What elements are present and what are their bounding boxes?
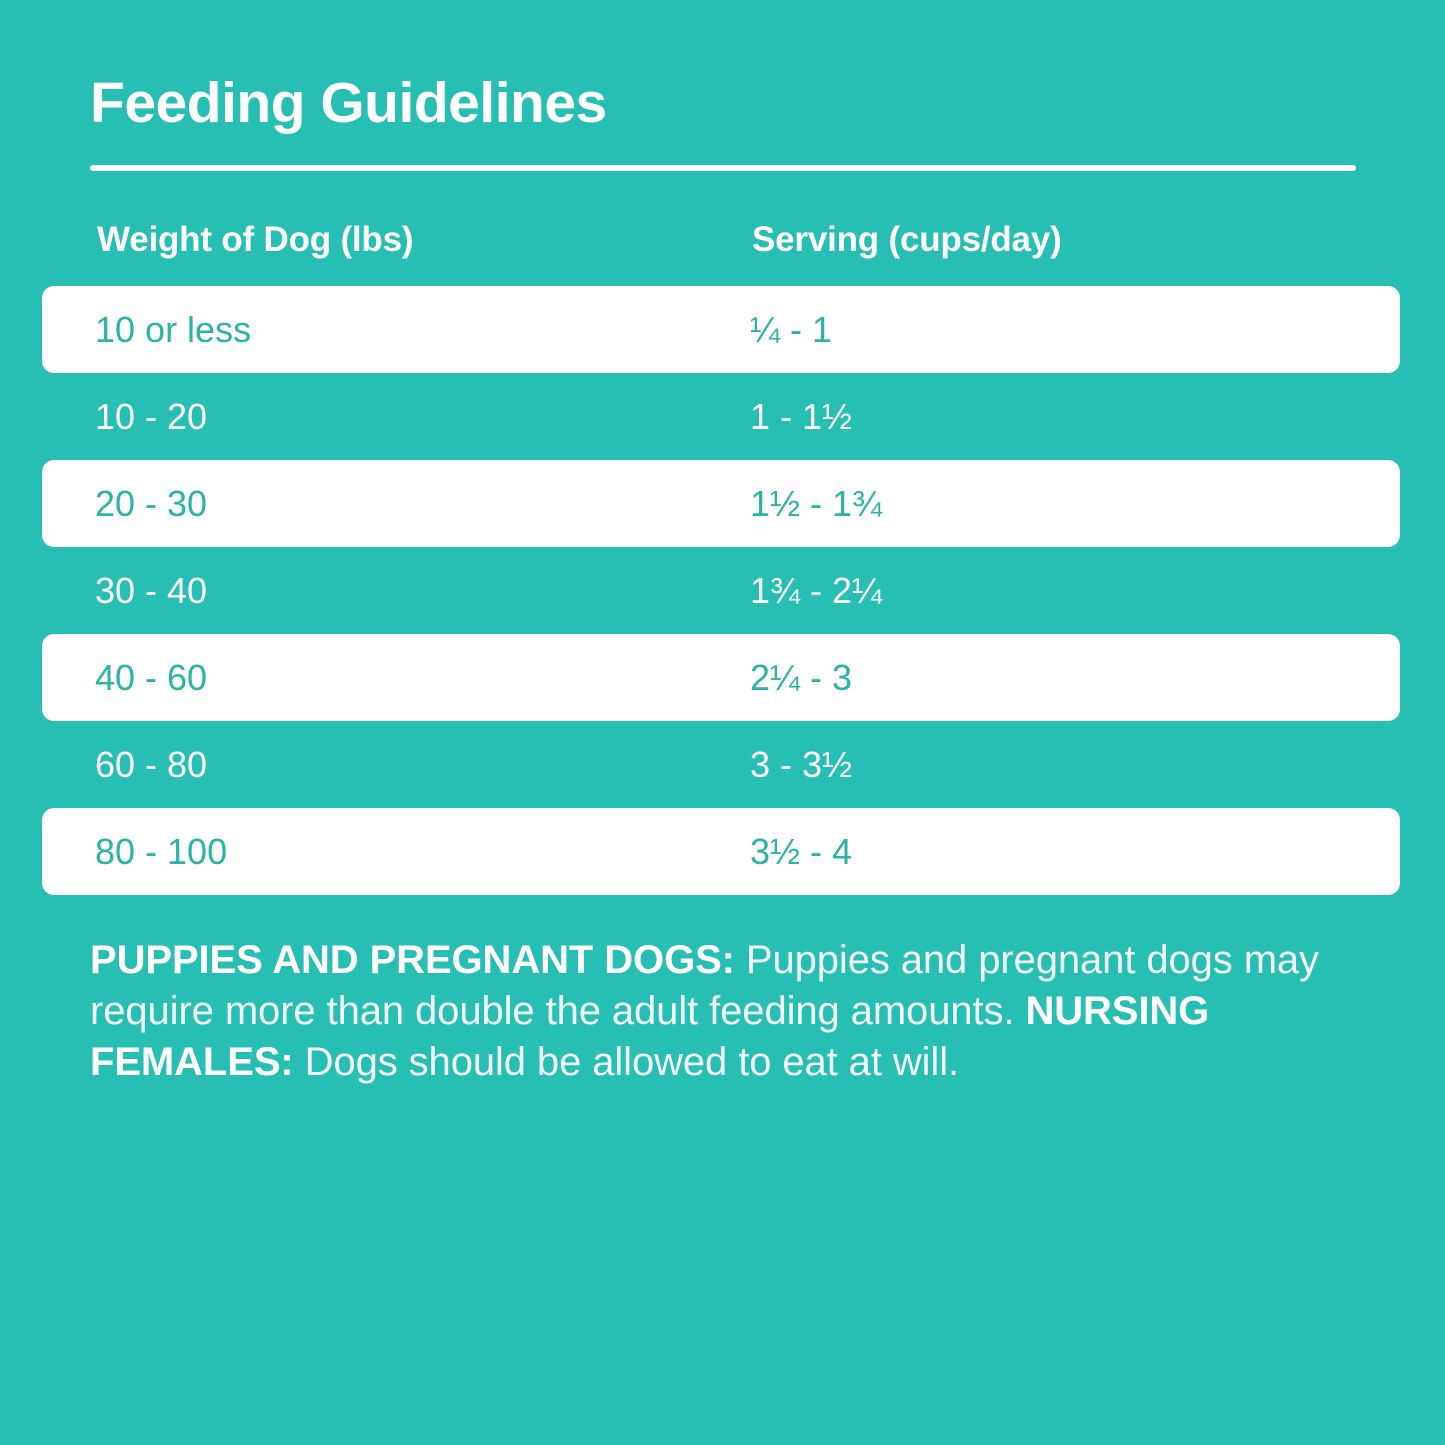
table-header-row: Weight of Dog (lbs) Serving (cups/day) [0,206,1445,286]
cell-weight: 10 - 20 [95,373,207,460]
row-background [42,460,1400,547]
cell-serving: 3½ - 4 [750,808,852,895]
feeding-guidelines-panel: Feeding Guidelines Weight of Dog (lbs) S… [0,0,1445,1445]
table-row: 40 - 602¼ - 3 [0,634,1445,721]
row-background [42,634,1400,721]
cell-serving: 3 - 3½ [750,721,852,808]
row-background [42,547,1400,634]
page-title: Feeding Guidelines [90,74,607,134]
table-row: 80 - 1003½ - 4 [0,808,1445,895]
table-row: 30 - 401¾ - 2¼ [0,547,1445,634]
footnote-lead-puppies: PUPPIES AND PREGNANT DOGS: [90,938,735,982]
feeding-table: Weight of Dog (lbs) Serving (cups/day) 1… [0,206,1445,895]
table-row: 20 - 301½ - 1¾ [0,460,1445,547]
cell-serving: 1 - 1½ [750,373,852,460]
row-background [42,373,1400,460]
table-row: 10 or less¼ - 1 [0,286,1445,373]
table-row: 10 - 201 - 1½ [0,373,1445,460]
cell-weight: 40 - 60 [95,634,207,721]
column-header-weight: Weight of Dog (lbs) [97,220,413,260]
row-background [42,721,1400,808]
table-row: 60 - 803 - 3½ [0,721,1445,808]
footnote: PUPPIES AND PREGNANT DOGS: Puppies and p… [90,935,1375,1089]
cell-weight: 20 - 30 [95,460,207,547]
cell-serving: ¼ - 1 [750,286,832,373]
table-body: 10 or less¼ - 110 - 201 - 1½20 - 301½ - … [0,286,1445,895]
cell-weight: 10 or less [95,286,251,373]
column-header-serving: Serving (cups/day) [752,220,1062,260]
title-divider [90,165,1356,171]
cell-weight: 80 - 100 [95,808,227,895]
cell-serving: 2¼ - 3 [750,634,852,721]
footnote-body-nursing: Dogs should be allowed to eat at will. [294,1040,959,1084]
row-background [42,808,1400,895]
cell-weight: 60 - 80 [95,721,207,808]
cell-weight: 30 - 40 [95,547,207,634]
cell-serving: 1¾ - 2¼ [750,547,882,634]
cell-serving: 1½ - 1¾ [750,460,882,547]
